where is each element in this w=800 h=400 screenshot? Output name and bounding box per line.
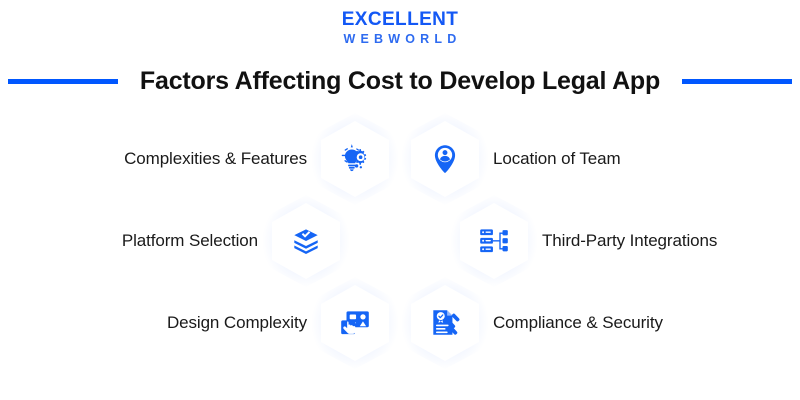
factor-label: Location of Team xyxy=(493,149,621,169)
hexagon-tile[interactable] xyxy=(411,285,479,361)
factor-row: Design Complexity xyxy=(0,282,800,364)
brand-logo: EXCELLENT WEBWORLD xyxy=(0,10,800,46)
factor-label: Third-Party Integrations xyxy=(542,231,717,251)
factor-label: Compliance & Security xyxy=(493,313,663,333)
icon-pair xyxy=(321,285,479,361)
logo-secondary-text: WEBWORLD xyxy=(0,33,800,46)
factor-item-third-party-integrations: Third-Party Integrations xyxy=(528,231,800,251)
hexagon-tile[interactable] xyxy=(321,285,389,361)
page-title: Factors Affecting Cost to Develop Legal … xyxy=(140,67,660,96)
title-rule-left xyxy=(8,79,118,84)
title-rule-right xyxy=(682,79,792,84)
factor-item-location-of-team: Location of Team xyxy=(479,149,778,169)
factor-label: Design Complexity xyxy=(167,313,307,333)
factor-row: Platform Selection xyxy=(0,200,800,282)
layers-stack-icon xyxy=(289,224,323,258)
title-bar: Factors Affecting Cost to Develop Legal … xyxy=(0,63,800,99)
document-gavel-icon xyxy=(428,306,462,340)
hexagon-tile[interactable] xyxy=(272,203,340,279)
hexagon-tile[interactable] xyxy=(321,121,389,197)
factor-label: Complexities & Features xyxy=(124,149,307,169)
factor-label: Platform Selection xyxy=(122,231,258,251)
factor-item-platform-selection: Platform Selection xyxy=(0,231,272,251)
hexagon-tile[interactable] xyxy=(411,121,479,197)
factor-item-complexities-features: Complexities & Features xyxy=(22,149,321,169)
icon-pair xyxy=(321,121,479,197)
lightbulb-gear-icon xyxy=(338,142,372,176)
factor-row: Complexities & Features xyxy=(0,118,800,200)
hexagon-tile[interactable] xyxy=(460,203,528,279)
design-cursor-icon xyxy=(338,306,372,340)
location-pin-person-icon xyxy=(428,142,462,176)
icon-pair xyxy=(272,203,528,279)
logo-primary-text: EXCELLENT xyxy=(0,10,800,29)
server-network-icon xyxy=(477,224,511,258)
factors-list: Complexities & Features xyxy=(0,118,800,364)
factor-item-compliance-security: Compliance & Security xyxy=(479,313,778,333)
factor-item-design-complexity: Design Complexity xyxy=(22,313,321,333)
